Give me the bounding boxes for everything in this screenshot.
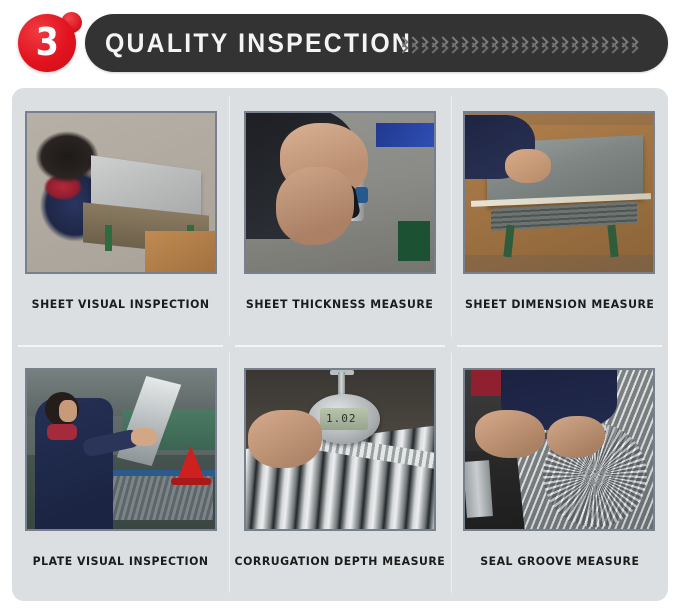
chevron-right-icon	[448, 36, 457, 52]
chevron-right-icon	[488, 36, 497, 52]
inspection-caption-3: SHEET DIMENSION MEASURE	[465, 297, 654, 311]
seal-groove-measure-photo	[463, 368, 655, 531]
inspection-cell-3[interactable]: SHEET DIMENSION MEASURE	[451, 88, 668, 345]
inspection-cell-1[interactable]: SHEET VISUAL INSPECTION	[12, 88, 229, 345]
chevron-right-icon	[618, 36, 627, 52]
chevron-right-icon	[568, 36, 577, 52]
sheet-thickness-measure-photo	[244, 111, 436, 274]
chevron-right-icon	[508, 36, 517, 52]
inspection-caption-4: PLATE VISUAL INSPECTION	[33, 554, 209, 568]
chevron-right-icon	[438, 36, 447, 52]
page-title: QUALITY INSPECTION	[105, 26, 439, 60]
inspection-cell-5[interactable]: 1.02 CORRUGATION DEPTH MEASURE	[229, 345, 451, 602]
inspection-cell-4[interactable]: PLATE VISUAL INSPECTION	[12, 345, 229, 602]
page-title-text: QUALITY INSPECTION	[105, 28, 412, 59]
plate-visual-inspection-photo	[25, 368, 217, 531]
badge-number: 3	[35, 23, 58, 61]
badge-circle-icon: 3	[18, 14, 76, 72]
sheet-visual-inspection-photo	[25, 111, 217, 274]
gauge-reading: 1.02	[326, 412, 357, 425]
chevron-right-icon	[588, 36, 597, 52]
step-badge: 3	[18, 12, 80, 74]
corrugation-depth-measure-photo: 1.02	[244, 368, 436, 531]
chevron-right-icon	[548, 36, 557, 52]
sheet-dimension-measure-photo	[463, 111, 655, 274]
chevron-right-icon	[458, 36, 467, 52]
chevron-right-icon	[518, 36, 527, 52]
chevron-right-icon	[498, 36, 507, 52]
page-header: QUALITY INSPECTION 3	[0, 0, 680, 88]
chevron-right-icon	[628, 36, 637, 52]
inspection-grid: SHEET VISUAL INSPECTION SHEET THICKNESS …	[12, 88, 668, 601]
chevron-right-icon	[608, 36, 617, 52]
inspection-cell-6[interactable]: SEAL GROOVE MEASURE	[451, 345, 668, 602]
chevron-right-icon	[578, 36, 587, 52]
inspection-cell-2[interactable]: SHEET THICKNESS MEASURE	[229, 88, 451, 345]
inspection-caption-2: SHEET THICKNESS MEASURE	[246, 297, 433, 311]
inspection-caption-1: SHEET VISUAL INSPECTION	[32, 297, 210, 311]
chevron-right-icon	[478, 36, 487, 52]
chevron-right-icon	[468, 36, 477, 52]
inspection-caption-5: CORRUGATION DEPTH MEASURE	[235, 554, 446, 568]
inspection-panel: SHEET VISUAL INSPECTION SHEET THICKNESS …	[12, 88, 668, 601]
chevron-right-icon	[538, 36, 547, 52]
inspection-caption-6: SEAL GROOVE MEASURE	[480, 554, 639, 568]
chevron-right-icon	[598, 36, 607, 52]
header-bar: QUALITY INSPECTION	[85, 14, 668, 72]
chevron-right-icon	[528, 36, 537, 52]
chevron-right-icon	[558, 36, 567, 52]
